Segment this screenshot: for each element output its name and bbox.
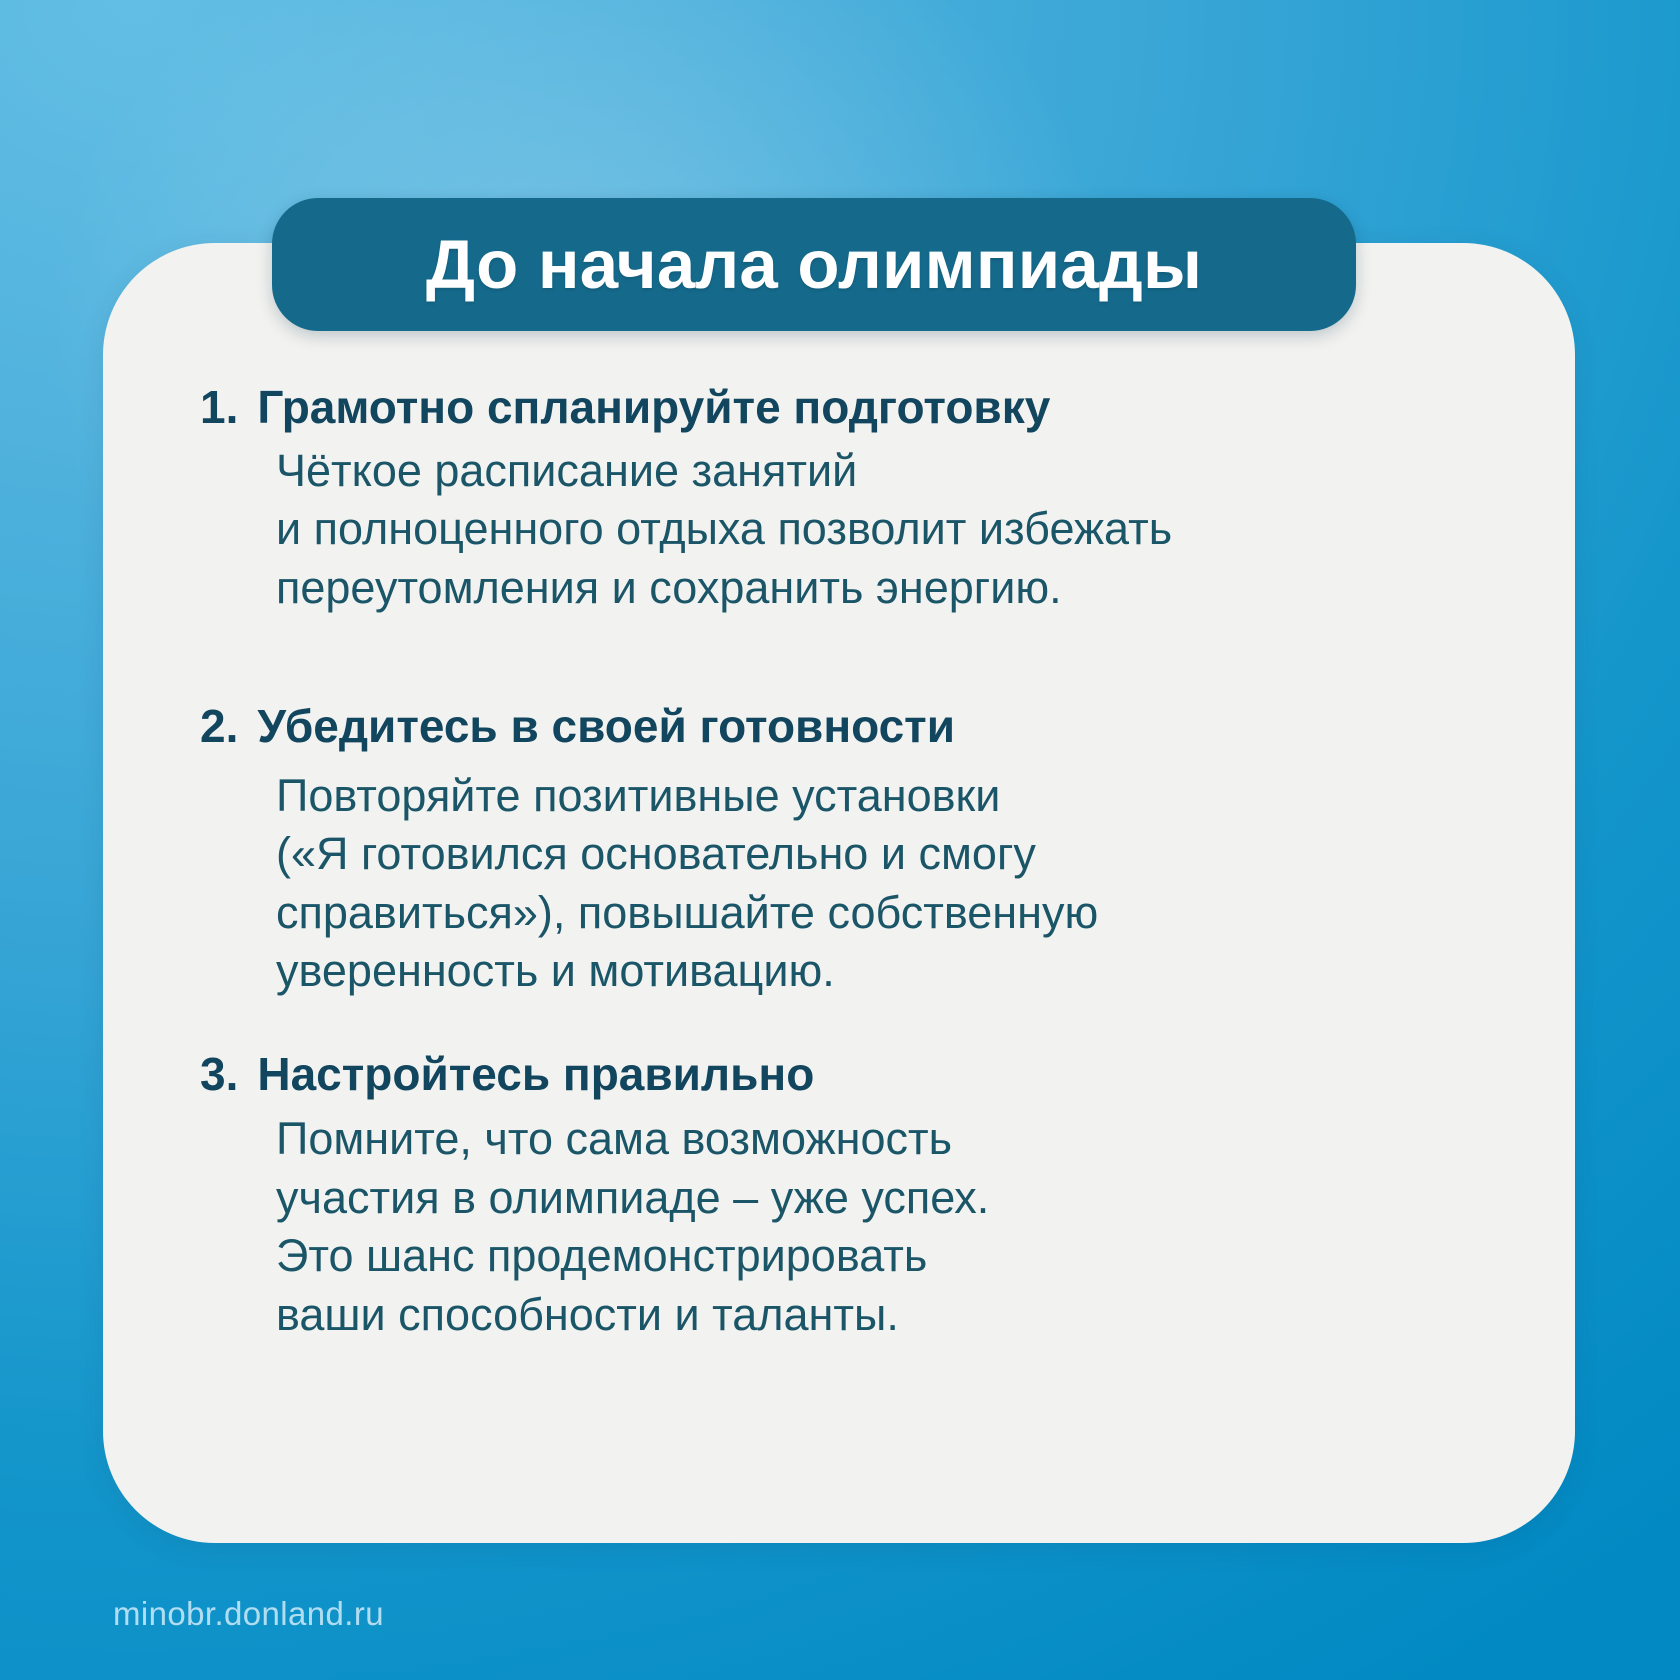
body-line: Это шанс продемонстрировать [276, 1227, 1490, 1286]
list-item-number: 3. [200, 1049, 238, 1101]
body-line: («Я готовился основательно и смогу [276, 825, 1490, 884]
body-line: уверенность и мотивацию. [276, 942, 1490, 1001]
body-line: ваши способности и таланты. [276, 1286, 1490, 1345]
list-item-body: Повторяйте позитивные установки («Я гото… [276, 767, 1490, 1001]
title-pill: До начала олимпиады [272, 198, 1356, 331]
list-item: 3. Настройтесь правильно Помните, что са… [200, 1049, 1490, 1345]
list-item-body: Помните, что сама возможность участия в … [276, 1110, 1490, 1344]
list-item-title: Настройтесь правильно [257, 1049, 814, 1101]
list-item-body: Чёткое расписание занятий и полноценного… [276, 442, 1490, 618]
list-item-title: Убедитесь в своей готовности [257, 701, 955, 753]
body-line: Чёткое расписание занятий [276, 442, 1490, 501]
list-item-heading: 3. Настройтесь правильно [200, 1049, 1490, 1101]
body-line: Помните, что сама возможность [276, 1110, 1490, 1169]
tips-list: 1. Грамотно спланируйте подготовку Чётко… [200, 382, 1490, 1344]
body-line: справиться»), повышайте собственную [276, 884, 1490, 943]
list-item-heading: 2. Убедитесь в своей готовности [200, 701, 1490, 753]
footer-website-url[interactable]: minobr.donland.ru [113, 1597, 384, 1630]
poster-root: До начала олимпиады 1. Грамотно спланиру… [0, 0, 1680, 1680]
list-item-number: 1. [200, 382, 238, 434]
list-item-number: 2. [200, 701, 238, 753]
body-line: переутомления и сохранить энергию. [276, 559, 1490, 618]
page-title: До начала олимпиады [426, 230, 1202, 299]
list-item: 1. Грамотно спланируйте подготовку Чётко… [200, 382, 1490, 617]
list-item-heading: 1. Грамотно спланируйте подготовку [200, 382, 1490, 434]
list-item: 2. Убедитесь в своей готовности Повторяй… [200, 701, 1490, 1001]
body-line: Повторяйте позитивные установки [276, 767, 1490, 826]
list-item-title: Грамотно спланируйте подготовку [257, 382, 1050, 434]
body-line: и полноценного отдыха позволит избежать [276, 500, 1490, 559]
body-line: участия в олимпиаде – уже успех. [276, 1169, 1490, 1228]
